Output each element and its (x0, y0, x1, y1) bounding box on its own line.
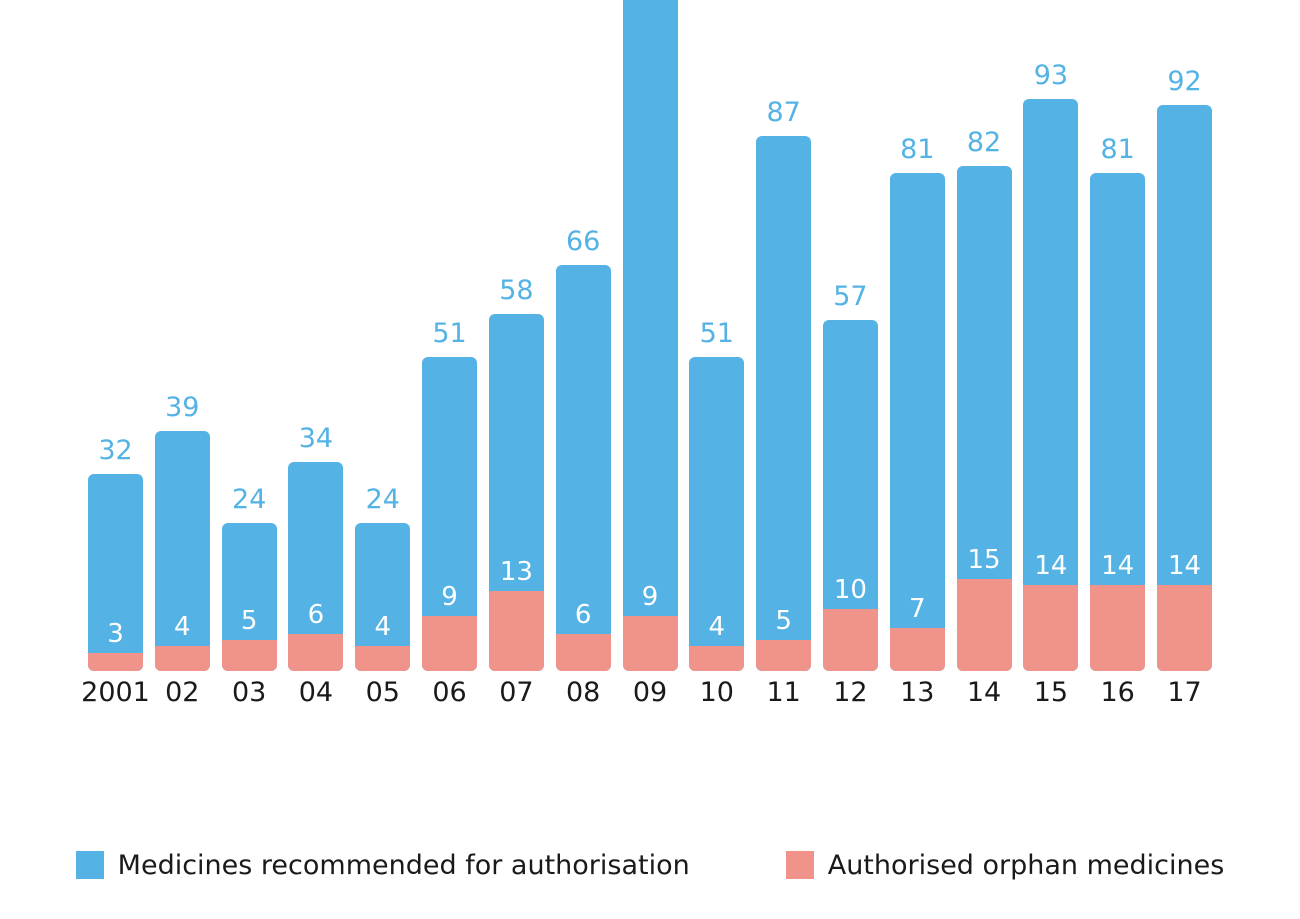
bar-value-label-orphan: 9 (441, 584, 458, 610)
legend-swatch-icon (76, 851, 104, 879)
bar-segment-orphan[interactable] (1157, 585, 1212, 671)
legend-label: Authorised orphan medicines (828, 852, 1225, 879)
bar-value-label-orphan: 14 (1168, 553, 1201, 579)
bar-segment-orphan[interactable] (88, 653, 143, 671)
bar-group[interactable]: 51410 (689, 357, 744, 671)
bar-segment-orphan[interactable] (756, 640, 811, 671)
bar-value-label-total: 24 (366, 486, 400, 513)
x-axis-tick-label: 09 (633, 679, 667, 706)
bar-segment-orphan[interactable] (1023, 585, 1078, 671)
x-axis-tick-label: 02 (165, 679, 199, 706)
bar-value-label-total: 92 (1167, 68, 1201, 95)
bar-chart: 3232001394022450334604244055190658130766… (0, 0, 1300, 919)
bar-group[interactable]: 39402 (155, 431, 210, 671)
x-axis-tick-label: 16 (1101, 679, 1135, 706)
bar-segment-orphan[interactable] (1090, 585, 1145, 671)
bar-value-label-total: 82 (967, 129, 1001, 156)
bar-value-label-total: 34 (299, 425, 333, 452)
bar-segment-orphan[interactable] (222, 640, 277, 671)
plot-area: 3232001394022450334604244055190658130766… (0, 0, 1300, 800)
bar-group[interactable]: 24503 (222, 523, 277, 671)
legend-swatch-icon (786, 851, 814, 879)
bar-group[interactable]: 87511 (756, 136, 811, 671)
bar-value-label-total: 93 (1034, 62, 1068, 89)
x-axis-tick-label: 12 (833, 679, 867, 706)
x-axis-tick-label: 07 (499, 679, 533, 706)
bar-value-label-orphan: 15 (968, 547, 1001, 573)
bar-value-label-orphan: 5 (241, 608, 258, 634)
bar-segment-orphan[interactable] (623, 616, 678, 671)
bar-group[interactable]: 51906 (422, 357, 477, 671)
bar-group[interactable]: 931415 (1023, 99, 1078, 671)
bar-value-label-total: 51 (700, 320, 734, 347)
bar-group[interactable]: 24405 (355, 523, 410, 671)
bar-segment-total[interactable] (623, 0, 678, 671)
bar-value-label-total: 32 (98, 437, 132, 464)
legend-item[interactable]: Medicines recommended for authorisation (76, 851, 690, 879)
bar-value-label-total: 81 (900, 136, 934, 163)
x-axis-tick-label: 05 (366, 679, 400, 706)
bar-group[interactable]: 821514 (957, 166, 1012, 671)
bar-group[interactable]: 3232001 (88, 474, 143, 671)
bar-group[interactable]: 571012 (823, 320, 878, 671)
bar-value-label-orphan: 10 (834, 577, 867, 603)
x-axis-tick-label: 03 (232, 679, 266, 706)
bar-group[interactable]: 81713 (890, 173, 945, 671)
bar-group[interactable]: 34604 (288, 462, 343, 671)
chart-legend: Medicines recommended for authorisationA… (0, 840, 1300, 890)
x-axis-tick-label: 11 (766, 679, 800, 706)
bar-group[interactable]: 921417 (1157, 105, 1212, 671)
bar-group[interactable]: 581307 (489, 314, 544, 671)
bar-segment-orphan[interactable] (890, 628, 945, 671)
x-axis-tick-label: 06 (432, 679, 466, 706)
bar-segment-orphan[interactable] (556, 634, 611, 671)
bar-segment-orphan[interactable] (957, 579, 1012, 671)
bar-group[interactable]: 66608 (556, 265, 611, 671)
bar-value-label-orphan: 6 (575, 602, 592, 628)
bar-value-label-total: 66 (566, 228, 600, 255)
x-axis-tick-label: 2001 (81, 679, 150, 706)
bar-value-label-orphan: 9 (642, 584, 659, 610)
bar-segment-orphan[interactable] (155, 646, 210, 671)
bar-segment-orphan[interactable] (689, 646, 744, 671)
x-axis-tick-label: 08 (566, 679, 600, 706)
bar-segment-orphan[interactable] (355, 646, 410, 671)
bar-value-label-orphan: 5 (775, 608, 792, 634)
bar-value-label-total: 57 (833, 283, 867, 310)
legend-label: Medicines recommended for authorisation (118, 852, 690, 879)
bar-value-label-total: 87 (766, 99, 800, 126)
legend-item[interactable]: Authorised orphan medicines (786, 851, 1225, 879)
bar-segment-orphan[interactable] (288, 634, 343, 671)
bar-group[interactable]: 811416 (1090, 173, 1145, 671)
x-axis-tick-label: 14 (967, 679, 1001, 706)
bar-value-label-total: 58 (499, 277, 533, 304)
bar-value-label-orphan: 14 (1101, 553, 1134, 579)
bar-value-label-total: 51 (432, 320, 466, 347)
bar-segment-orphan[interactable] (489, 591, 544, 671)
x-axis-tick-label: 04 (299, 679, 333, 706)
bar-segment-orphan[interactable] (422, 616, 477, 671)
bar-value-label-orphan: 6 (308, 602, 325, 628)
x-axis-tick-label: 15 (1034, 679, 1068, 706)
x-axis-tick-label: 10 (700, 679, 734, 706)
bar-value-label-orphan: 4 (174, 614, 191, 640)
bar-segment-orphan[interactable] (823, 609, 878, 671)
bar-segment-total[interactable] (756, 136, 811, 671)
bar-value-label-orphan: 7 (909, 596, 926, 622)
bar-group[interactable]: 117909 (623, 0, 678, 671)
bar-value-label-orphan: 4 (374, 614, 391, 640)
bar-value-label-orphan: 13 (500, 559, 533, 585)
bar-value-label-orphan: 4 (709, 614, 726, 640)
bar-value-label-orphan: 14 (1034, 553, 1067, 579)
bar-value-label-total: 81 (1101, 136, 1135, 163)
bar-value-label-total: 39 (165, 394, 199, 421)
bar-value-label-total: 24 (232, 486, 266, 513)
bar-value-label-orphan: 3 (107, 621, 124, 647)
x-axis-tick-label: 13 (900, 679, 934, 706)
x-axis-tick-label: 17 (1167, 679, 1201, 706)
